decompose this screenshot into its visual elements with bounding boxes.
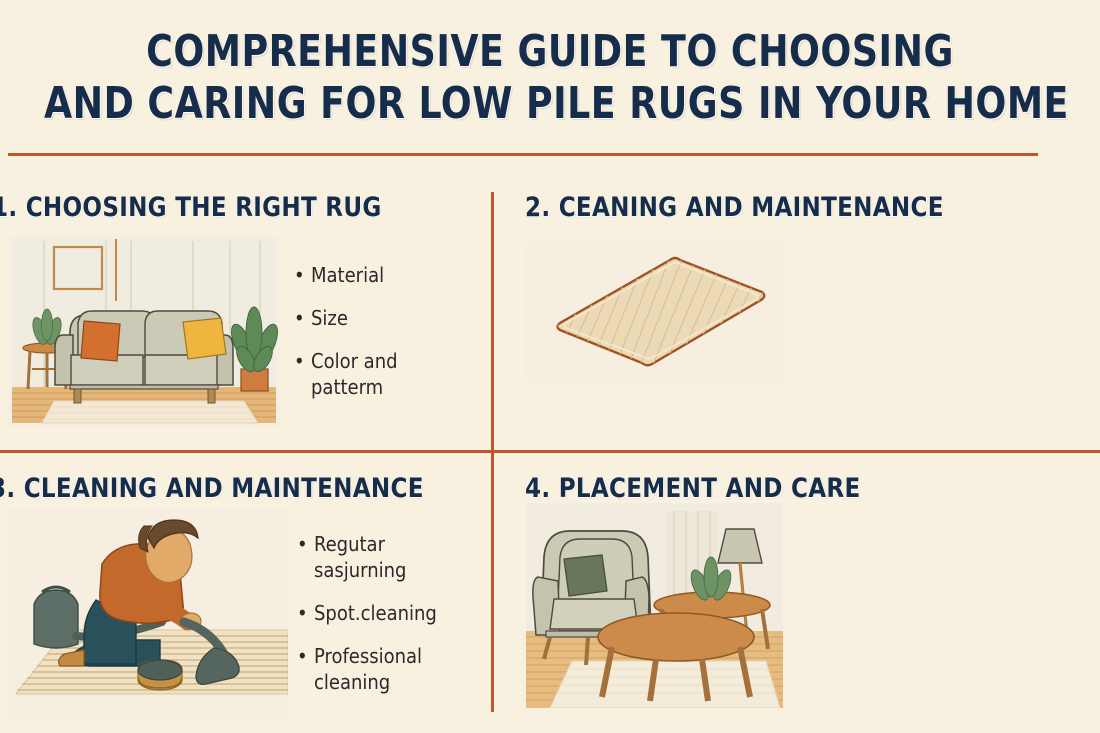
list-item: Color and patterm bbox=[294, 348, 474, 400]
list-item: Regutar sasjurning bbox=[297, 531, 477, 583]
section-ceaning-and-maintenance: 2. CEANING AND MAINTENANCE bbox=[494, 170, 1100, 450]
list-item: Material bbox=[294, 262, 474, 288]
section-cleaning-and-maintenance: 3. CLEANING AND MAINTENANCE bbox=[0, 453, 491, 733]
list-item: Size bbox=[294, 305, 474, 331]
section-1-bullet-list: Material Size Color and patterm bbox=[294, 262, 474, 417]
title-line-2: AND CARING FOR LOW PILE RUGS IN YOUR HOM… bbox=[44, 78, 1056, 130]
infographic-canvas: COMPREHENSIVE GUIDE TO CHOOSING AND CARI… bbox=[0, 0, 1100, 733]
section-choosing-the-right-rug: 1. CHOOSING THE RIGHT RUG bbox=[0, 170, 491, 450]
flat-low-pile-rug-illustration bbox=[524, 242, 784, 382]
person-vacuuming-rug-illustration bbox=[8, 508, 288, 718]
living-room-with-sofa-illustration bbox=[8, 235, 280, 427]
list-item: Spot.cleaning bbox=[297, 600, 477, 626]
section-placement-and-care: 4. PLACEMENT AND CARE bbox=[494, 453, 1100, 733]
list-item: Professional cleaning bbox=[297, 643, 477, 695]
title-line-1: COMPREHENSIVE GUIDE TO CHOOSING bbox=[44, 26, 1056, 78]
header-divider bbox=[8, 153, 1038, 156]
page-title: COMPREHENSIVE GUIDE TO CHOOSING AND CARI… bbox=[0, 26, 1100, 130]
armchair-and-coffee-table-illustration bbox=[526, 503, 783, 708]
section-3-bullet-list: Regutar sasjurning Spot.cleaning Profess… bbox=[297, 531, 477, 712]
